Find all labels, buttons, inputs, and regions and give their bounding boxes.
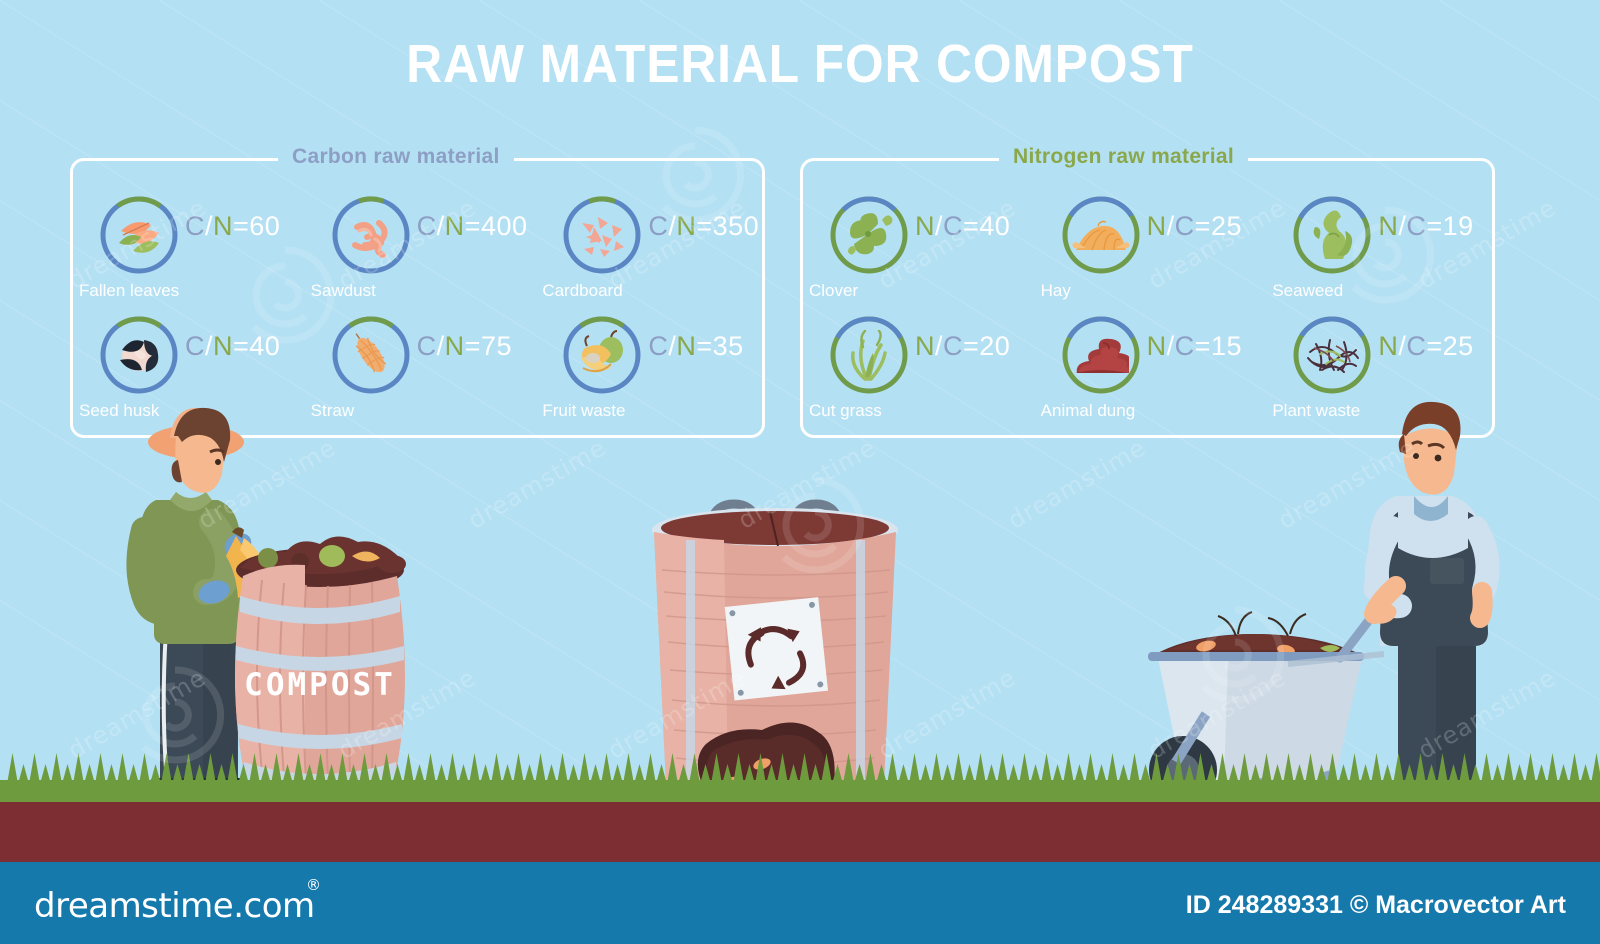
spiral-icon bbox=[640, 120, 750, 235]
fallen-leaves-icon bbox=[99, 195, 179, 275]
ratio-ring bbox=[99, 195, 179, 275]
ratio-ring bbox=[1061, 195, 1141, 275]
image-credit: ID 248289331 © Macrovector Art bbox=[1186, 891, 1566, 920]
ratio-ring bbox=[562, 195, 642, 275]
material-name: Fallen leaves bbox=[79, 281, 229, 301]
material-name: Hay bbox=[1041, 281, 1191, 301]
page-title: RAW MATERIAL FOR COMPOST bbox=[64, 33, 1536, 95]
material-item[interactable]: N/C=25Hay bbox=[1035, 185, 1267, 305]
material-name: Clover bbox=[809, 281, 959, 301]
ratio-value: C/N=400 bbox=[417, 211, 528, 242]
spiral-icon bbox=[760, 470, 870, 585]
panel-nitrogen-label: Nitrogen raw material bbox=[999, 145, 1248, 169]
stock-footer-bar: dreamstime.com ® ID 248289331 © Macrovec… bbox=[0, 862, 1600, 944]
ratio-value: C/N=75 bbox=[417, 331, 512, 362]
grass-blades bbox=[0, 748, 1600, 784]
material-item[interactable]: N/C=40Clover bbox=[803, 185, 1035, 305]
hay-icon bbox=[1061, 195, 1141, 275]
clover-icon bbox=[829, 195, 909, 275]
spiral-icon bbox=[230, 240, 340, 355]
brand-text: dreamstime.com bbox=[34, 886, 315, 926]
infographic-canvas: RAW MATERIAL FOR COMPOST Carbon raw mate… bbox=[0, 0, 1600, 944]
grass-strip bbox=[0, 780, 1600, 802]
ratio-value: N/C=15 bbox=[1147, 331, 1242, 362]
ratio-ring bbox=[829, 195, 909, 275]
spiral-icon bbox=[1180, 600, 1290, 715]
registered-mark-icon: ® bbox=[306, 876, 321, 894]
soil-band bbox=[0, 802, 1600, 862]
illustration-scene: COMPOST bbox=[0, 380, 1600, 800]
barrel-label: COMPOST bbox=[244, 667, 396, 703]
material-name: Cardboard bbox=[542, 281, 692, 301]
ratio-value: C/N=35 bbox=[648, 331, 743, 362]
panel-carbon-label: Carbon raw material bbox=[278, 145, 514, 169]
ratio-ring bbox=[331, 195, 411, 275]
spiral-icon bbox=[1330, 200, 1440, 315]
ratio-value: C/N=60 bbox=[185, 211, 280, 242]
cardboard-icon bbox=[562, 195, 642, 275]
ratio-value: N/C=25 bbox=[1378, 331, 1473, 362]
ratio-value: N/C=20 bbox=[915, 331, 1010, 362]
dreamstime-logo: dreamstime.com ® bbox=[34, 886, 315, 926]
recycle-sign bbox=[725, 597, 828, 700]
sawdust-icon bbox=[331, 195, 411, 275]
spiral-icon bbox=[120, 660, 230, 775]
ratio-value: N/C=40 bbox=[915, 211, 1010, 242]
ratio-value: N/C=25 bbox=[1147, 211, 1242, 242]
